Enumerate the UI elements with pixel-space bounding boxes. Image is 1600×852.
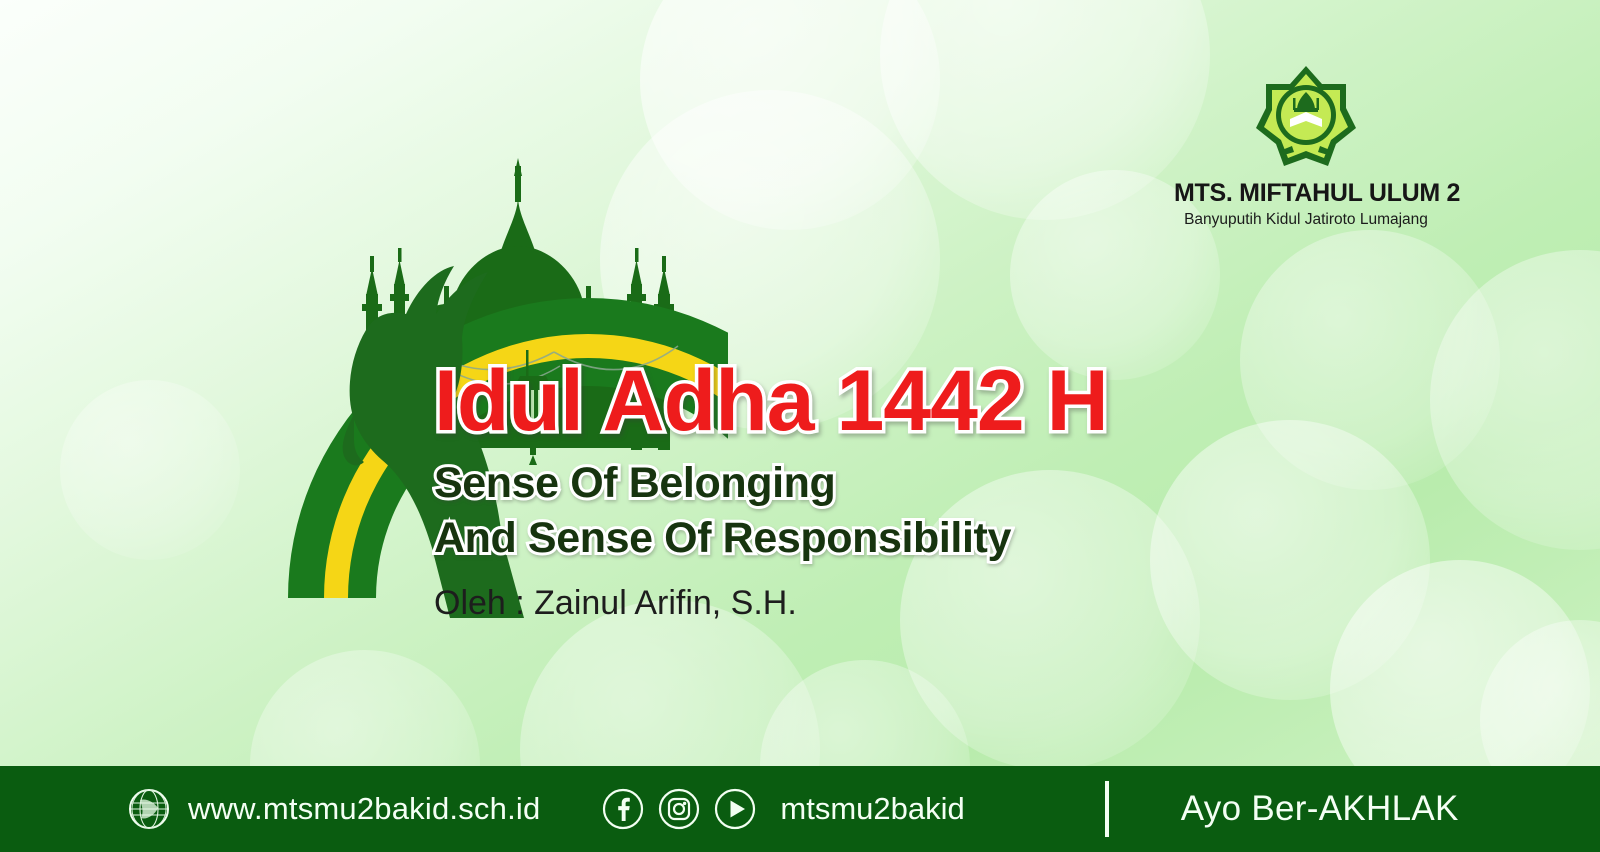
instagram-icon[interactable] (658, 788, 700, 830)
globe-icon (128, 788, 170, 830)
bokeh-circle (1430, 250, 1600, 550)
school-name: MTS. MIFTAHUL ULUM 2 (1174, 179, 1438, 208)
headline-block: Idul Adha 1442 H Sense Of Belonging And … (434, 358, 1334, 623)
subtitle-block: Sense Of Belonging And Sense Of Responsi… (434, 456, 1334, 566)
social-group[interactable]: mtsmu2bakid (602, 788, 964, 830)
page-title: Idul Adha 1442 H (434, 358, 1334, 444)
school-address: Banyuputih Kidul Jatiroto Lumajang (1174, 211, 1438, 229)
bokeh-circle (880, 0, 1210, 220)
speaker-byline: Oleh : Zainul Arifin, S.H. (434, 584, 1334, 623)
footer-slogan: Ayo Ber-AKHLAK (1181, 789, 1459, 829)
website-url[interactable]: www.mtsmu2bakid.sch.id (188, 791, 540, 827)
subtitle-line-1: Sense Of Belonging (434, 456, 1334, 511)
youtube-icon[interactable] (714, 788, 756, 830)
footer-bar: www.mtsmu2bakid.sch.id mtsmu2bak (0, 766, 1600, 852)
idul-adha-banner: Idul Adha 1442 H Sense Of Belonging And … (0, 0, 1600, 852)
website-group[interactable]: www.mtsmu2bakid.sch.id (128, 788, 540, 830)
school-logo-block: MTS. MIFTAHUL ULUM 2 Banyuputih Kidul Ja… (1174, 62, 1438, 229)
subtitle-line-2: And Sense Of Responsibility (434, 511, 1334, 566)
social-handle[interactable]: mtsmu2bakid (780, 791, 964, 827)
madrasah-star-emblem-icon (1252, 62, 1360, 170)
footer-divider (1105, 781, 1109, 837)
facebook-icon[interactable] (602, 788, 644, 830)
